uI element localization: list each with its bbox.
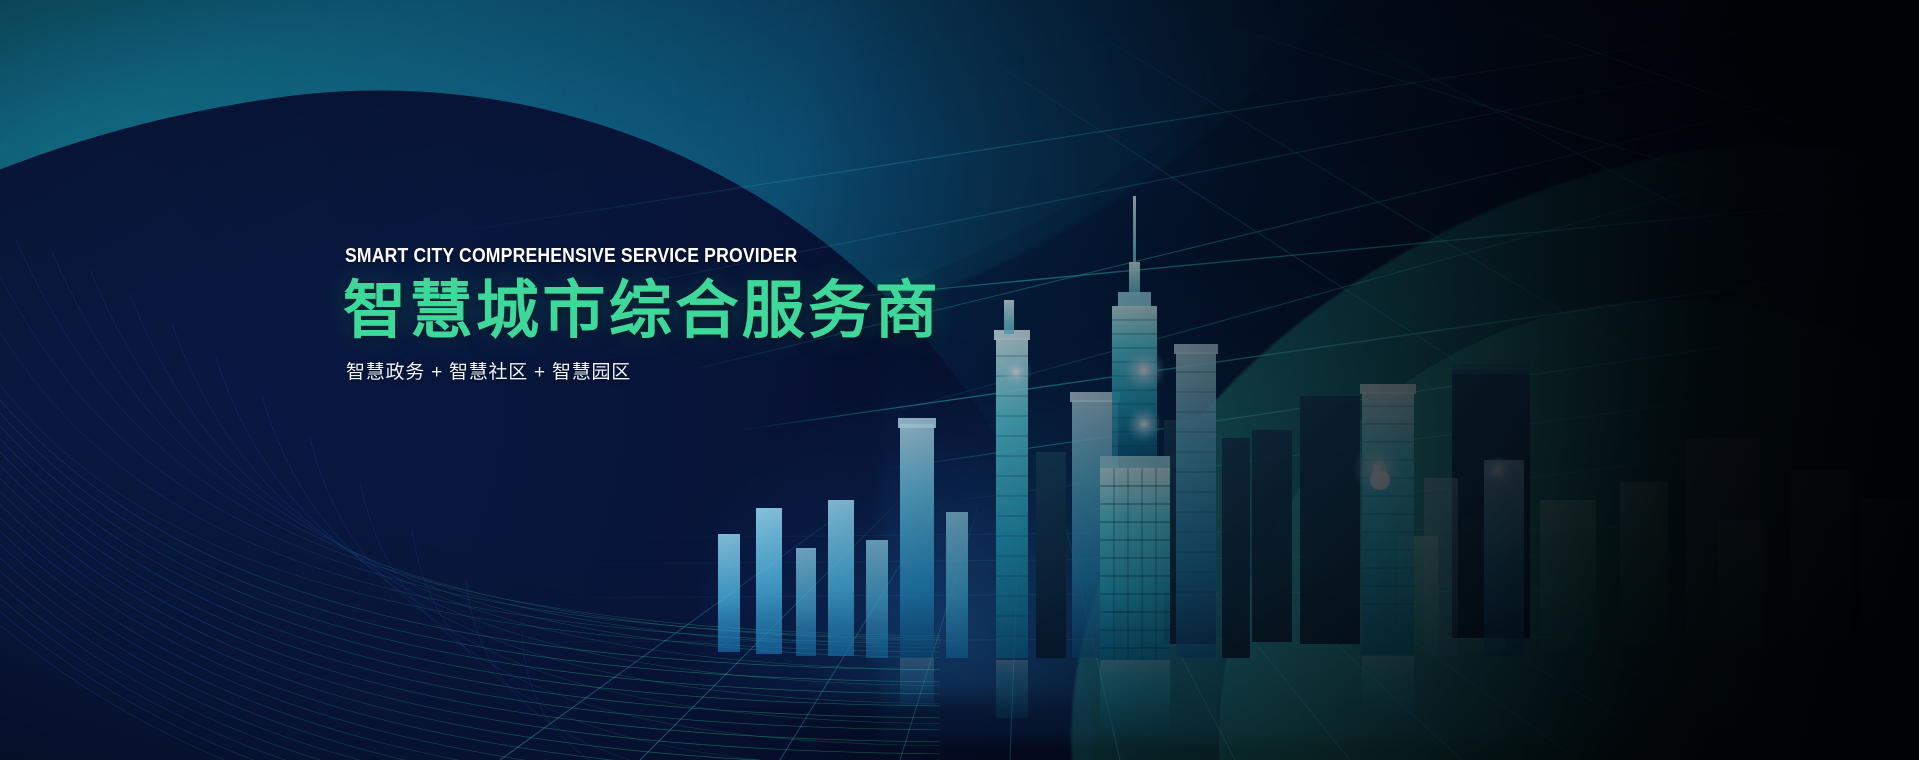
page-title: 智慧城市综合服务商 bbox=[343, 280, 1163, 343]
subtitle-services: 智慧政务 + 智慧社区 + 智慧园区 bbox=[346, 363, 1163, 382]
smart-city-hero-banner: SMART CITY COMPREHENSIVE SERVICE PROVIDE… bbox=[0, 0, 1919, 760]
tagline-english: SMART CITY COMPREHENSIVE SERVICE PROVIDE… bbox=[345, 246, 1065, 266]
hero-text-block: SMART CITY COMPREHENSIVE SERVICE PROVIDE… bbox=[343, 246, 1163, 382]
